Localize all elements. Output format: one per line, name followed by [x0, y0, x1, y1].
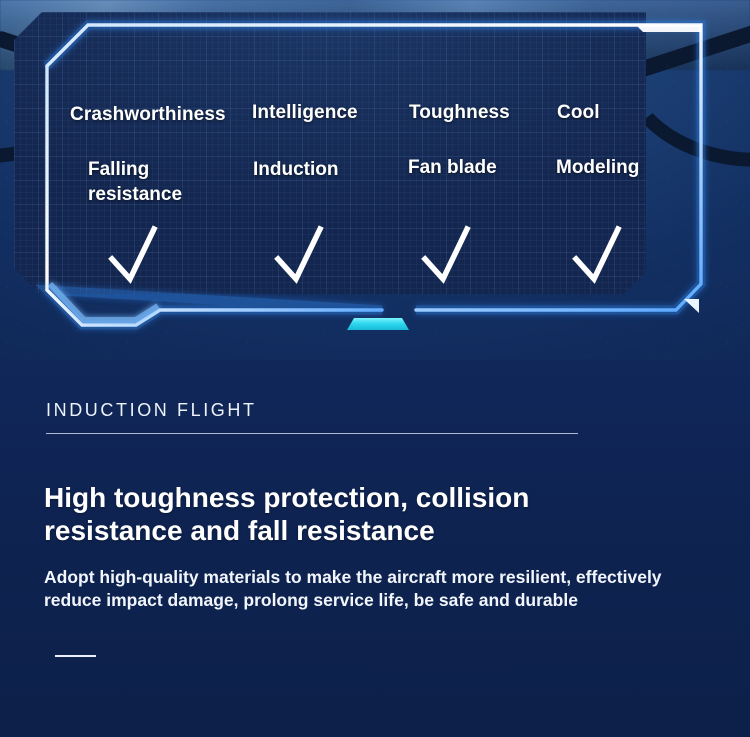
- check-mark-icon-0: [108, 225, 164, 289]
- section-divider: [46, 433, 578, 434]
- feature-subtitle-0: Falling resistance: [88, 157, 182, 207]
- feature-subtitle-0-line2: resistance: [88, 182, 182, 207]
- feature-title-3: Cool: [557, 102, 600, 124]
- feature-title-1: Intelligence: [252, 102, 358, 124]
- check-mark-icon-2: [421, 225, 477, 289]
- feature-title-2: Toughness: [409, 102, 510, 124]
- check-mark-icon-3: [572, 225, 628, 289]
- feature-title-0: Crashworthiness: [70, 104, 226, 126]
- feature-subtitle-1: Induction: [253, 157, 338, 182]
- section-headline: High toughness protection, collision res…: [44, 481, 644, 547]
- section-subcopy: Adopt high-quality materials to make the…: [44, 566, 664, 612]
- feature-subtitle-2: Fan blade: [408, 155, 497, 180]
- feature-grid: Crashworthiness Falling resistance Intel…: [44, 22, 704, 328]
- section-eyebrow: INDUCTION FLIGHT: [46, 400, 257, 421]
- section-end-dash: [55, 655, 96, 657]
- feature-subtitle-3: Modeling: [556, 155, 639, 180]
- check-mark-icon-1: [274, 225, 330, 289]
- feature-subtitle-0-line1: Falling: [88, 157, 182, 182]
